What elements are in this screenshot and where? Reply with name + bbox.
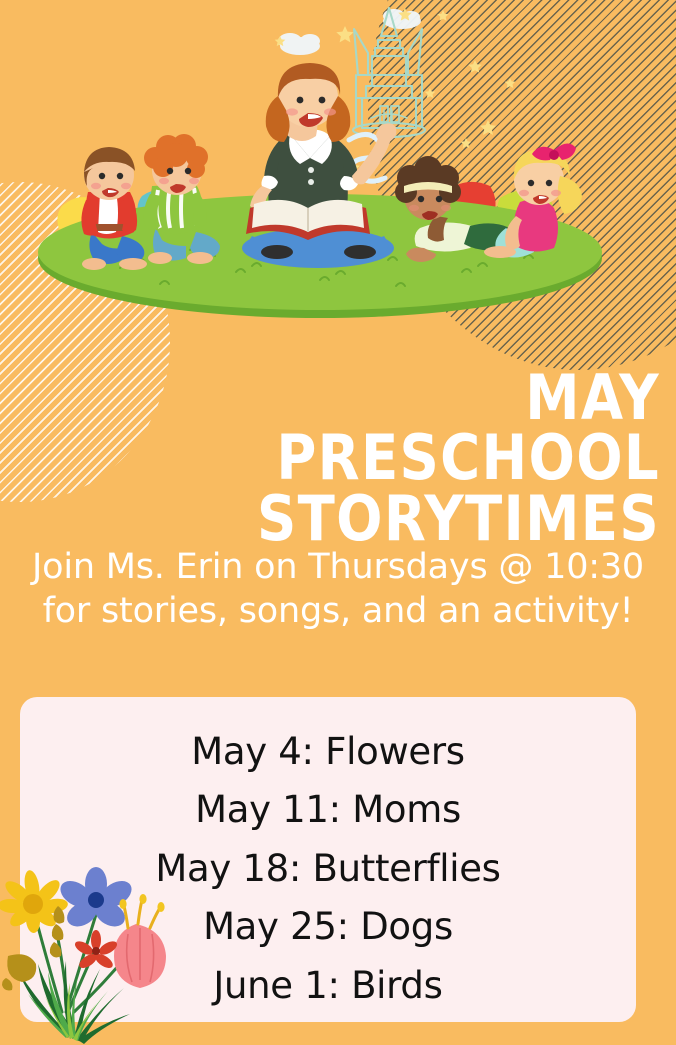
headline-line-2: PRESCHOOL [97, 428, 660, 489]
subtitle-line-2: for stories, songs, and an activity! [8, 589, 668, 633]
headline-line-1: MAY [97, 368, 660, 429]
list-item: May 18: Butterflies [20, 840, 636, 898]
storytime-illustration [0, 0, 676, 330]
page-title: MAY PRESCHOOL STORYTIMES [97, 368, 660, 550]
teacher-reading-book [242, 63, 396, 268]
schedule-list: May 4: Flowers May 11: Moms May 18: Butt… [20, 723, 636, 1015]
list-item: June 1: Birds [20, 957, 636, 1015]
castle-doodle-icon [353, 8, 425, 137]
headline-line-3: STORYTIMES [97, 489, 660, 550]
poster-flyer: MAY PRESCHOOL STORYTIMES Join Ms. Erin o… [0, 0, 676, 1045]
schedule-card: May 4: Flowers May 11: Moms May 18: Butt… [20, 697, 636, 1022]
list-item: May 4: Flowers [20, 723, 636, 781]
subtitle-line-1: Join Ms. Erin on Thursdays @ 10:30 [8, 545, 668, 589]
list-item: May 25: Dogs [20, 898, 636, 956]
subtitle-text: Join Ms. Erin on Thursdays @ 10:30 for s… [8, 545, 668, 633]
list-item: May 11: Moms [20, 781, 636, 839]
